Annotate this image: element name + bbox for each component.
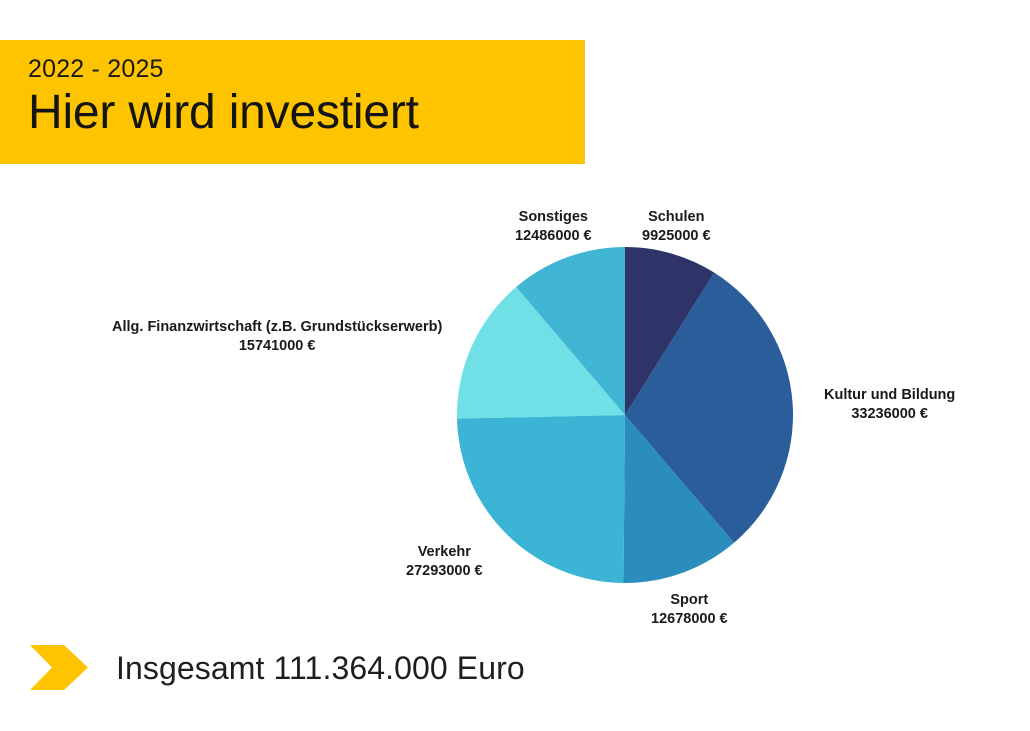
pie-label-sport: Sport 12678000 € — [651, 591, 728, 629]
pie-label-finanzwirtschaft-value: 15741000 € — [112, 337, 442, 356]
pie-slice — [623, 415, 734, 583]
pie-label-verkehr: Verkehr 27293000 € — [406, 543, 483, 581]
pie-label-schulen-name: Schulen — [642, 208, 711, 227]
pie-label-schulen-value: 9925000 € — [642, 227, 711, 246]
pie-label-kultur-und-bildung-value: 33236000 € — [824, 405, 955, 424]
pie-label-sport-value: 12678000 € — [651, 610, 728, 629]
total-investment-text: Insgesamt 111.364.000 Euro — [116, 648, 525, 688]
pie-label-finanzwirtschaft: Allg. Finanzwirtschaft (z.B. Grundstücks… — [112, 318, 442, 356]
pie-label-kultur-und-bildung-name: Kultur und Bildung — [824, 386, 955, 405]
header-banner: 2022 - 2025 Hier wird investiert — [0, 40, 585, 164]
pie-label-sonstiges-name: Sonstiges — [515, 208, 592, 227]
pie-label-verkehr-name: Verkehr — [406, 543, 483, 562]
pie-label-verkehr-value: 27293000 € — [406, 562, 483, 581]
pie-label-sonstiges: Sonstiges 12486000 € — [515, 208, 592, 246]
pie-label-sport-name: Sport — [651, 591, 728, 610]
pie-slice — [625, 247, 714, 415]
pie-label-finanzwirtschaft-name: Allg. Finanzwirtschaft (z.B. Grundstücks… — [112, 318, 442, 337]
footer-total: Insgesamt 111.364.000 Euro — [30, 645, 525, 690]
pie-slice — [516, 247, 625, 415]
chevron-right-arrow-icon — [30, 645, 88, 690]
pie-slice-group — [457, 247, 793, 583]
header-period: 2022 - 2025 — [28, 54, 585, 84]
pie-label-schulen: Schulen 9925000 € — [642, 208, 711, 246]
pie-label-sonstiges-value: 12486000 € — [515, 227, 592, 246]
page-title: Hier wird investiert — [28, 82, 585, 144]
pie-slice — [625, 273, 793, 543]
pie-slice — [457, 287, 625, 419]
pie-label-kultur-und-bildung: Kultur und Bildung 33236000 € — [824, 386, 955, 424]
